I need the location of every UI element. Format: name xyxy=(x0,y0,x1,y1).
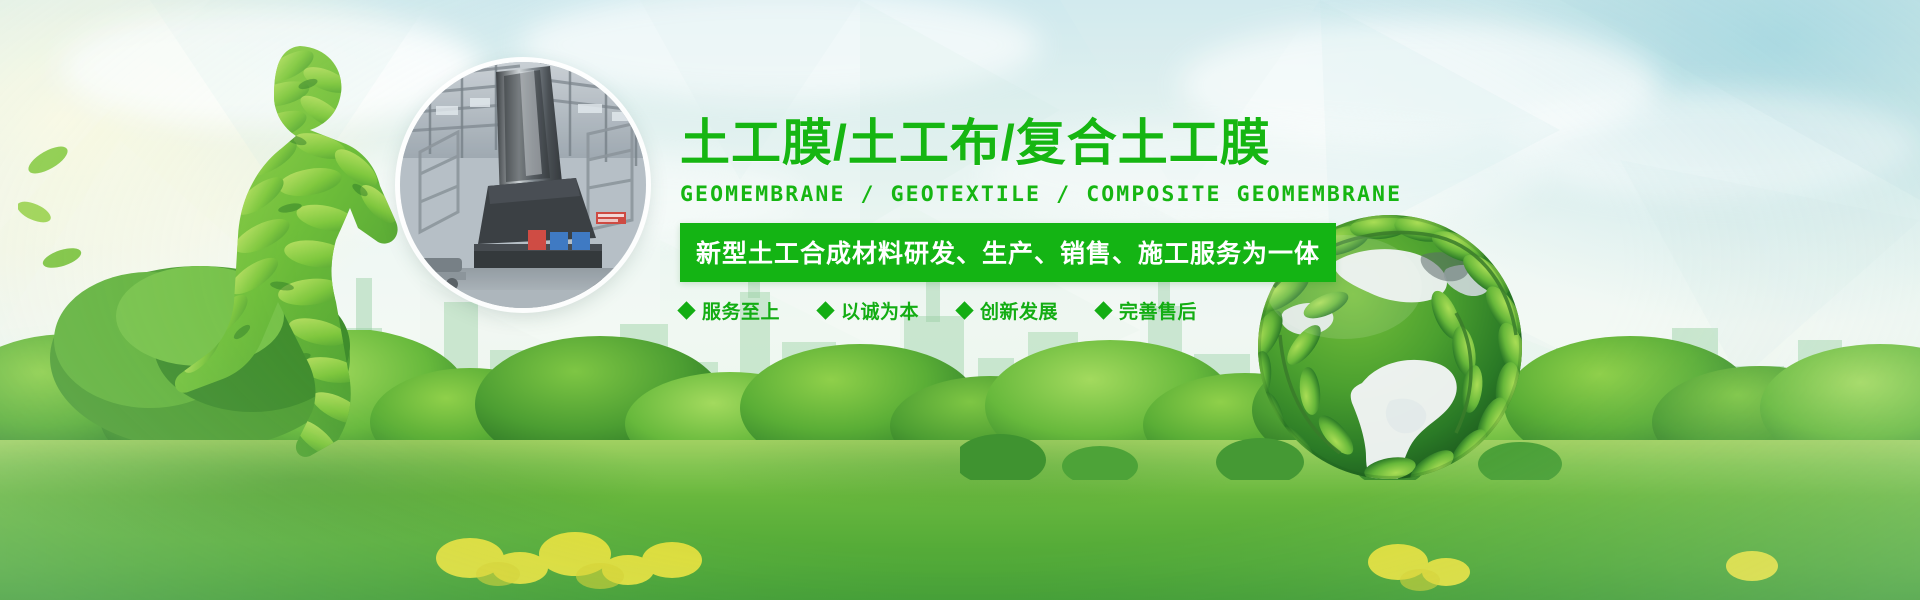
banner-green-bar: 新型土工合成材料研发、生产、销售、施工服务为一体 xyxy=(680,223,1336,282)
diamond-icon xyxy=(816,301,834,319)
feature-bullet-4: 完善售后 xyxy=(1097,297,1197,324)
diamond-icon xyxy=(1094,301,1112,319)
banner-headline: 土工膜/土工布/复合土工膜 xyxy=(680,118,1200,168)
yellow-flowers-illustration xyxy=(0,490,1920,600)
feature-bullet-list: 服务至上 以诚为本 创新发展 完善售后 xyxy=(680,297,1200,324)
factory-photo xyxy=(400,62,646,308)
banner-copy-block: 土工膜/土工布/复合土工膜 GEOMEMBRANE / GEOTEXTILE /… xyxy=(680,118,1200,324)
leaf-running-man-illustration xyxy=(150,40,410,460)
feature-bullet-4-label: 完善售后 xyxy=(1119,297,1197,324)
feature-bullet-1: 服务至上 xyxy=(680,297,780,324)
diamond-icon xyxy=(677,301,695,319)
feature-bullet-2-label: 以诚为本 xyxy=(841,297,919,324)
promo-banner: 土工膜/土工布/复合土工膜 GEOMEMBRANE / GEOTEXTILE /… xyxy=(0,0,1920,600)
feature-bullet-3: 创新发展 xyxy=(958,297,1058,324)
factory-photo-image xyxy=(400,62,646,308)
feature-bullet-1-label: 服务至上 xyxy=(702,297,780,324)
diamond-icon xyxy=(955,301,973,319)
feature-bullet-3-label: 创新发展 xyxy=(980,297,1058,324)
floating-leaves-icon xyxy=(18,140,88,280)
feature-bullet-2: 以诚为本 xyxy=(819,297,919,324)
banner-subtitle-english: GEOMEMBRANE / GEOTEXTILE / COMPOSITE GEO… xyxy=(680,182,1200,207)
